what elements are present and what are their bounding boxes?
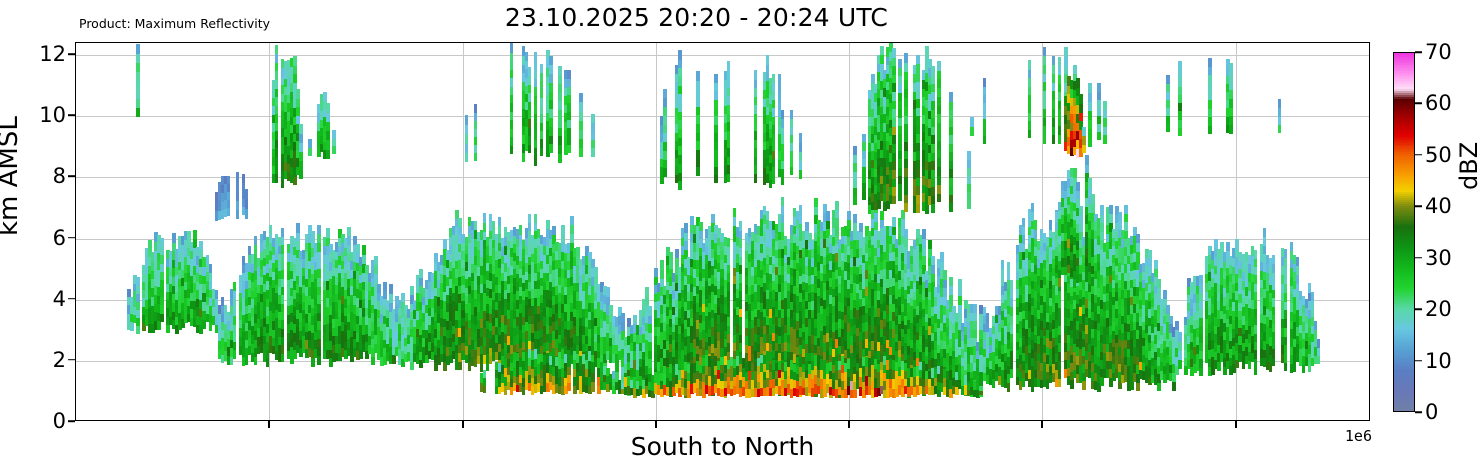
- reflectivity-cell: [136, 89, 140, 99]
- reflectivity-cell: [510, 77, 514, 86]
- reflectivity-cell: [714, 99, 718, 108]
- reflectivity-cell: [534, 95, 538, 104]
- reflectivity-cell: [374, 265, 378, 274]
- reflectivity-cell: [136, 301, 140, 310]
- reflectivity-cell: [528, 67, 532, 76]
- reflectivity-cell: [540, 97, 544, 106]
- reflectivity-cell: [916, 194, 920, 203]
- reflectivity-cell: [904, 185, 908, 194]
- reflectivity-cell: [880, 211, 884, 220]
- reflectivity-cell: [377, 284, 381, 293]
- reflectivity-cell: [862, 166, 866, 175]
- reflectivity-cell: [799, 142, 803, 152]
- reflectivity-cell: [892, 195, 896, 204]
- reflectivity-cell: [227, 199, 231, 208]
- reflectivity-cell: [892, 178, 896, 187]
- reflectivity-cell: [510, 52, 514, 61]
- reflectivity-cell: [892, 143, 896, 152]
- reflectivity-cell: [281, 336, 285, 345]
- reflectivity-cell: [160, 288, 164, 297]
- reflectivity-cell: [880, 54, 884, 63]
- reflectivity-cell: [916, 133, 920, 142]
- reflectivity-cell: [419, 269, 423, 278]
- reflectivity-cell: [660, 269, 664, 279]
- reflectivity-cell: [567, 70, 571, 79]
- reflectivity-cell: [739, 308, 743, 317]
- reflectivity-cell: [727, 238, 731, 247]
- reflectivity-cell: [790, 110, 794, 119]
- reflectivity-cell: [534, 214, 538, 223]
- reflectivity-cell: [790, 142, 794, 151]
- reflectivity-cell: [781, 168, 785, 177]
- reflectivity-cell: [317, 338, 321, 347]
- reflectivity-cell: [754, 122, 758, 131]
- reflectivity-cell: [558, 74, 562, 83]
- reflectivity-cell: [434, 253, 438, 262]
- reflectivity-cell: [904, 203, 908, 212]
- reflectivity-cell: [727, 173, 731, 182]
- reflectivity-cell: [281, 328, 285, 337]
- reflectivity-cell: [293, 176, 297, 185]
- reflectivity-cell: [236, 209, 240, 219]
- reflectivity-cell: [853, 214, 857, 223]
- reflectivity-cell: [570, 233, 574, 242]
- reflectivity-cell: [675, 257, 679, 266]
- reflectivity-cell: [898, 59, 902, 68]
- reflectivity-cell: [362, 254, 366, 264]
- reflectivity-cell: [474, 112, 478, 121]
- reflectivity-cell: [916, 90, 920, 99]
- reflectivity-cell: [389, 293, 393, 302]
- reflectivity-cell: [570, 216, 574, 225]
- reflectivity-cell: [772, 158, 776, 167]
- reflectivity-cell: [281, 228, 285, 237]
- reflectivity-cell: [458, 218, 462, 227]
- reflectivity-cell: [645, 296, 649, 305]
- reflectivity-cell: [714, 132, 718, 141]
- reflectivity-cell: [233, 324, 237, 333]
- reflectivity-cell: [245, 189, 249, 199]
- reflectivity-cell: [465, 133, 469, 143]
- reflectivity-cell: [916, 72, 920, 81]
- reflectivity-cell: [540, 64, 544, 73]
- reflectivity-cell: [772, 124, 776, 133]
- reflectivity-cell: [540, 114, 544, 123]
- reflectivity-cell: [862, 191, 866, 200]
- reflectivity-cell: [558, 136, 562, 145]
- reflectivity-cell: [549, 56, 553, 65]
- reflectivity-cell: [233, 299, 237, 308]
- reflectivity-cell: [781, 135, 785, 144]
- reflectivity-cell: [549, 74, 553, 83]
- reflectivity-cell: [558, 83, 562, 92]
- reflectivity-cell: [727, 130, 731, 139]
- reflectivity-cell: [898, 184, 902, 193]
- reflectivity-cell: [410, 361, 414, 370]
- reflectivity-cell: [621, 313, 625, 323]
- reflectivity-cell: [781, 160, 785, 169]
- reflectivity-cell: [187, 231, 191, 240]
- reflectivity-cell: [576, 247, 580, 257]
- reflectivity-cell: [727, 165, 731, 174]
- reflectivity-cell: [293, 56, 297, 65]
- reflectivity-cell: [281, 295, 285, 304]
- reflectivity-cell: [510, 120, 514, 129]
- reflectivity-cell: [678, 94, 682, 103]
- reflectivity-cell: [383, 290, 387, 299]
- reflectivity-cell: [714, 124, 718, 133]
- reflectivity-cell: [904, 97, 908, 106]
- reflectivity-cell: [281, 303, 285, 312]
- reflectivity-cell: [534, 122, 538, 131]
- reflectivity-cell: [540, 139, 544, 148]
- reflectivity-cell: [528, 110, 532, 119]
- reflectivity-cell: [281, 236, 285, 245]
- reflectivity-cell: [790, 126, 794, 135]
- reflectivity-cell: [299, 170, 303, 180]
- reflectivity-cell: [781, 119, 785, 128]
- reflectivity-cell: [317, 295, 321, 304]
- reflectivity-cell: [727, 247, 731, 256]
- reflectivity-cell: [739, 239, 743, 248]
- reflectivity-cell: [281, 278, 285, 287]
- reflectivity-cell: [528, 127, 532, 136]
- product-label: Product: Maximum Reflectivity: [79, 16, 270, 31]
- reflectivity-cell: [528, 75, 532, 84]
- reflectivity-cell: [615, 362, 619, 372]
- reflectivity-cell: [561, 225, 565, 234]
- reflectivity-cell: [904, 194, 908, 203]
- reflectivity-cell: [296, 232, 300, 241]
- reflectivity-cell: [660, 260, 664, 270]
- reflectivity-cell: [871, 74, 875, 83]
- reflectivity-cell: [540, 81, 544, 90]
- reflectivity-cell: [136, 44, 140, 54]
- reflectivity-cell: [663, 115, 667, 124]
- reflectivity-cell: [510, 128, 514, 137]
- reflectivity-cell: [727, 122, 731, 131]
- reflectivity-cell: [540, 72, 544, 81]
- reflectivity-cell: [317, 286, 321, 295]
- reflectivity-cell: [766, 211, 770, 220]
- reflectivity-cell: [754, 148, 758, 157]
- reflectivity-cell: [904, 132, 908, 141]
- reflectivity-cell: [510, 94, 514, 103]
- reflectivity-cell: [678, 76, 682, 85]
- reflectivity-cell: [772, 175, 776, 184]
- reflectivity-cell: [510, 60, 514, 69]
- reflectivity-cell: [892, 109, 896, 118]
- reflectivity-cell: [799, 160, 803, 170]
- reflectivity-cell: [727, 79, 731, 88]
- reflectivity-cell: [492, 221, 496, 230]
- reflectivity-cell: [892, 74, 896, 83]
- reflectivity-cell: [754, 88, 758, 97]
- reflectivity-cell: [275, 54, 279, 63]
- reflectivity-cell: [678, 68, 682, 77]
- reflectivity-cell: [275, 88, 279, 97]
- reflectivity-cell: [727, 61, 731, 70]
- reflectivity-cell: [904, 115, 908, 124]
- reflectivity-cell: [739, 247, 743, 256]
- reflectivity-cell: [892, 91, 896, 100]
- reflectivity-cell: [522, 152, 526, 162]
- reflectivity-cell: [281, 270, 285, 279]
- reflectivity-cell: [678, 102, 682, 111]
- reflectivity-cell: [136, 277, 140, 286]
- reflectivity-cell: [799, 214, 803, 223]
- reflectivity-cell: [540, 89, 544, 98]
- reflectivity-cell: [916, 186, 920, 195]
- reflectivity-cell: [510, 86, 514, 95]
- reflectivity-cell: [772, 107, 776, 116]
- reflectivity-cell: [347, 227, 351, 236]
- reflectivity-cell: [711, 214, 715, 223]
- reflectivity-cell: [904, 80, 908, 89]
- reflectivity-cell: [558, 118, 562, 127]
- reflectivity-cell: [892, 161, 896, 170]
- reflectivity-cell: [579, 111, 583, 121]
- reflectivity-cell: [392, 354, 396, 364]
- reflectivity-cell: [853, 146, 857, 155]
- reflectivity-cell: [862, 142, 866, 151]
- reflectivity-cell: [696, 158, 700, 167]
- reflectivity-cell: [714, 158, 718, 167]
- reflectivity-cell: [474, 144, 478, 153]
- reflectivity-cell: [275, 45, 279, 54]
- reflectivity-cell: [727, 316, 731, 325]
- reflectivity-cell: [835, 209, 839, 218]
- reflectivity-cell: [699, 222, 703, 231]
- reflectivity-cell: [799, 151, 803, 161]
- reflectivity-cell: [684, 232, 688, 241]
- reflectivity-cell: [880, 46, 884, 55]
- reflectivity-cell: [579, 147, 583, 157]
- reflectivity-cell: [739, 282, 743, 291]
- reflectivity-cell: [299, 160, 303, 170]
- reflectivity-cell: [790, 167, 794, 176]
- reflectivity-cell: [781, 127, 785, 136]
- reflectivity-cell: [799, 205, 803, 214]
- reflectivity-cell: [898, 142, 902, 151]
- reflectivity-cell: [727, 87, 731, 96]
- reflectivity-cell: [558, 145, 562, 154]
- reflectivity-cell: [898, 109, 902, 118]
- reflectivity-cell: [678, 50, 682, 59]
- reflectivity-cell: [546, 220, 550, 229]
- reflectivity-cell: [419, 277, 423, 286]
- reflectivity-cell: [281, 353, 285, 362]
- reflectivity-cell: [233, 349, 237, 358]
- reflectivity-cell: [401, 293, 405, 302]
- reflectivity-cell: [739, 256, 743, 265]
- reflectivity-cell: [594, 267, 598, 276]
- reflectivity-cell: [609, 305, 613, 314]
- reflectivity-cell: [136, 317, 140, 326]
- reflectivity-cell: [465, 143, 469, 153]
- reflectivity-cell: [326, 103, 330, 113]
- reflectivity-cell: [733, 208, 737, 217]
- reflectivity-cell: [916, 168, 920, 177]
- reflectivity-cell: [678, 137, 682, 146]
- reflectivity-cell: [317, 329, 321, 338]
- reflectivity-cell: [317, 225, 321, 234]
- reflectivity-cell: [136, 325, 140, 334]
- reflectivity-cell: [814, 198, 818, 207]
- reflectivity-cell: [510, 145, 514, 154]
- reflectivity-cell: [696, 141, 700, 150]
- reflectivity-cell: [648, 315, 652, 324]
- reflectivity-cell: [678, 163, 682, 172]
- reflectivity-cell: [835, 201, 839, 210]
- reflectivity-cell: [317, 312, 321, 321]
- reflectivity-cell: [826, 211, 830, 220]
- reflectivity-cell: [534, 130, 538, 139]
- reflectivity-cell: [281, 261, 285, 270]
- reflectivity-cell: [678, 120, 682, 129]
- reflectivity-cell: [898, 100, 902, 109]
- reflectivity-cell: [474, 120, 478, 129]
- reflectivity-cell: [374, 273, 378, 282]
- reflectivity-cell: [862, 174, 866, 183]
- reflectivity-cell: [160, 238, 164, 247]
- reflectivity-cell: [326, 131, 330, 141]
- reflectivity-cell: [904, 62, 908, 71]
- reflectivity-cell: [317, 321, 321, 330]
- reflectivity-cell: [540, 147, 544, 156]
- reflectivity-cell: [591, 372, 595, 382]
- reflectivity-cell: [892, 135, 896, 144]
- reflectivity-cell: [606, 287, 610, 297]
- reflectivity-cell: [332, 130, 336, 138]
- reflectivity-cell: [245, 208, 249, 218]
- reflectivity-cell: [904, 238, 908, 247]
- reflectivity-cell: [772, 74, 776, 83]
- reflectivity-cell: [474, 153, 478, 162]
- reflectivity-cell: [727, 113, 731, 122]
- reflectivity-cell: [483, 213, 487, 223]
- reflectivity-cell: [778, 74, 782, 83]
- reflectivity-cell: [853, 155, 857, 164]
- reflectivity-cell: [570, 225, 574, 234]
- reflectivity-cell: [916, 63, 920, 72]
- reflectivity-cell: [510, 137, 514, 146]
- reflectivity-cell: [308, 147, 312, 156]
- reflectivity-cell: [510, 103, 514, 112]
- reflectivity-cell: [549, 65, 553, 74]
- reflectivity-cell: [245, 356, 249, 365]
- reflectivity-cell: [296, 223, 300, 232]
- reflectivity-cell: [534, 156, 538, 165]
- reflectivity-cell: [567, 103, 571, 112]
- reflectivity-cell: [275, 96, 279, 105]
- reflectivity-cell: [898, 175, 902, 184]
- reflectivity-cell: [160, 313, 164, 322]
- reflectivity-cell: [772, 167, 776, 176]
- reflectivity-mesh: [76, 43, 1369, 420]
- reflectivity-cell: [172, 233, 176, 242]
- reflectivity-cell: [781, 197, 785, 206]
- reflectivity-cell: [892, 226, 896, 235]
- reflectivity-cell: [696, 89, 700, 98]
- reflectivity-cell: [678, 128, 682, 137]
- reflectivity-cell: [714, 141, 718, 150]
- reflectivity-cell: [317, 260, 321, 269]
- reflectivity-cell: [558, 92, 562, 101]
- reflectivity-cell: [160, 280, 164, 289]
- reflectivity-cell: [727, 281, 731, 290]
- reflectivity-cell: [558, 127, 562, 136]
- reflectivity-cell: [892, 65, 896, 74]
- reflectivity-cell: [847, 211, 851, 220]
- reflectivity-cell: [766, 55, 770, 64]
- reflectivity-cell: [663, 89, 667, 98]
- reflectivity-cell: [916, 203, 920, 212]
- reflectivity-cell: [209, 272, 213, 281]
- reflectivity-cell: [567, 366, 571, 375]
- reflectivity-cell: [558, 109, 562, 118]
- reflectivity-cell: [567, 119, 571, 128]
- reflectivity-cell: [916, 81, 920, 90]
- reflectivity-cell: [727, 139, 731, 148]
- reflectivity-cell: [160, 296, 164, 305]
- reflectivity-cell: [754, 173, 758, 182]
- reflectivity-cell: [233, 307, 237, 316]
- reflectivity-cell: [727, 273, 731, 282]
- reflectivity-cell: [727, 290, 731, 299]
- reflectivity-cell: [296, 240, 300, 249]
- reflectivity-cell: [474, 128, 478, 137]
- reflectivity-cell: [227, 191, 231, 200]
- reflectivity-cell: [528, 93, 532, 102]
- reflectivity-cell: [483, 385, 487, 393]
- reflectivity-cell: [233, 341, 237, 350]
- reflectivity-cell: [591, 131, 595, 140]
- reflectivity-cell: [853, 179, 857, 188]
- reflectivity-cell: [233, 316, 237, 325]
- reflectivity-cell: [754, 113, 758, 122]
- reflectivity-cell: [874, 221, 878, 230]
- reflectivity-cell: [567, 94, 571, 103]
- reflectivity-cell: [299, 142, 303, 152]
- reflectivity-cell: [654, 268, 658, 277]
- reflectivity-cell: [835, 218, 839, 227]
- reflectivity-cell: [727, 264, 731, 273]
- reflectivity-cell: [148, 240, 152, 249]
- reflectivity-cell: [299, 124, 303, 134]
- reflectivity-cell: [326, 122, 330, 132]
- reflectivity-cell: [160, 246, 164, 255]
- reflectivity-cell: [898, 92, 902, 101]
- reflectivity-cell: [549, 109, 553, 118]
- reflectivity-cell: [739, 342, 743, 351]
- reflectivity-cell: [621, 321, 625, 331]
- reflectivity-cell: [678, 111, 682, 120]
- reflectivity-cell: [898, 159, 902, 168]
- reflectivity-cell: [483, 378, 487, 386]
- reflectivity-cell: [778, 99, 782, 108]
- reflectivity-cell: [206, 255, 210, 264]
- reflectivity-cell: [781, 214, 785, 223]
- reflectivity-cell: [549, 117, 553, 126]
- reflectivity-cell: [136, 107, 140, 117]
- reflectivity-cell: [362, 245, 366, 255]
- reflectivity-cell: [678, 154, 682, 163]
- reflectivity-cell: [528, 101, 532, 110]
- reflectivity-cell: [898, 75, 902, 84]
- reflectivity-cell: [766, 64, 770, 73]
- reflectivity-cell: [633, 315, 637, 325]
